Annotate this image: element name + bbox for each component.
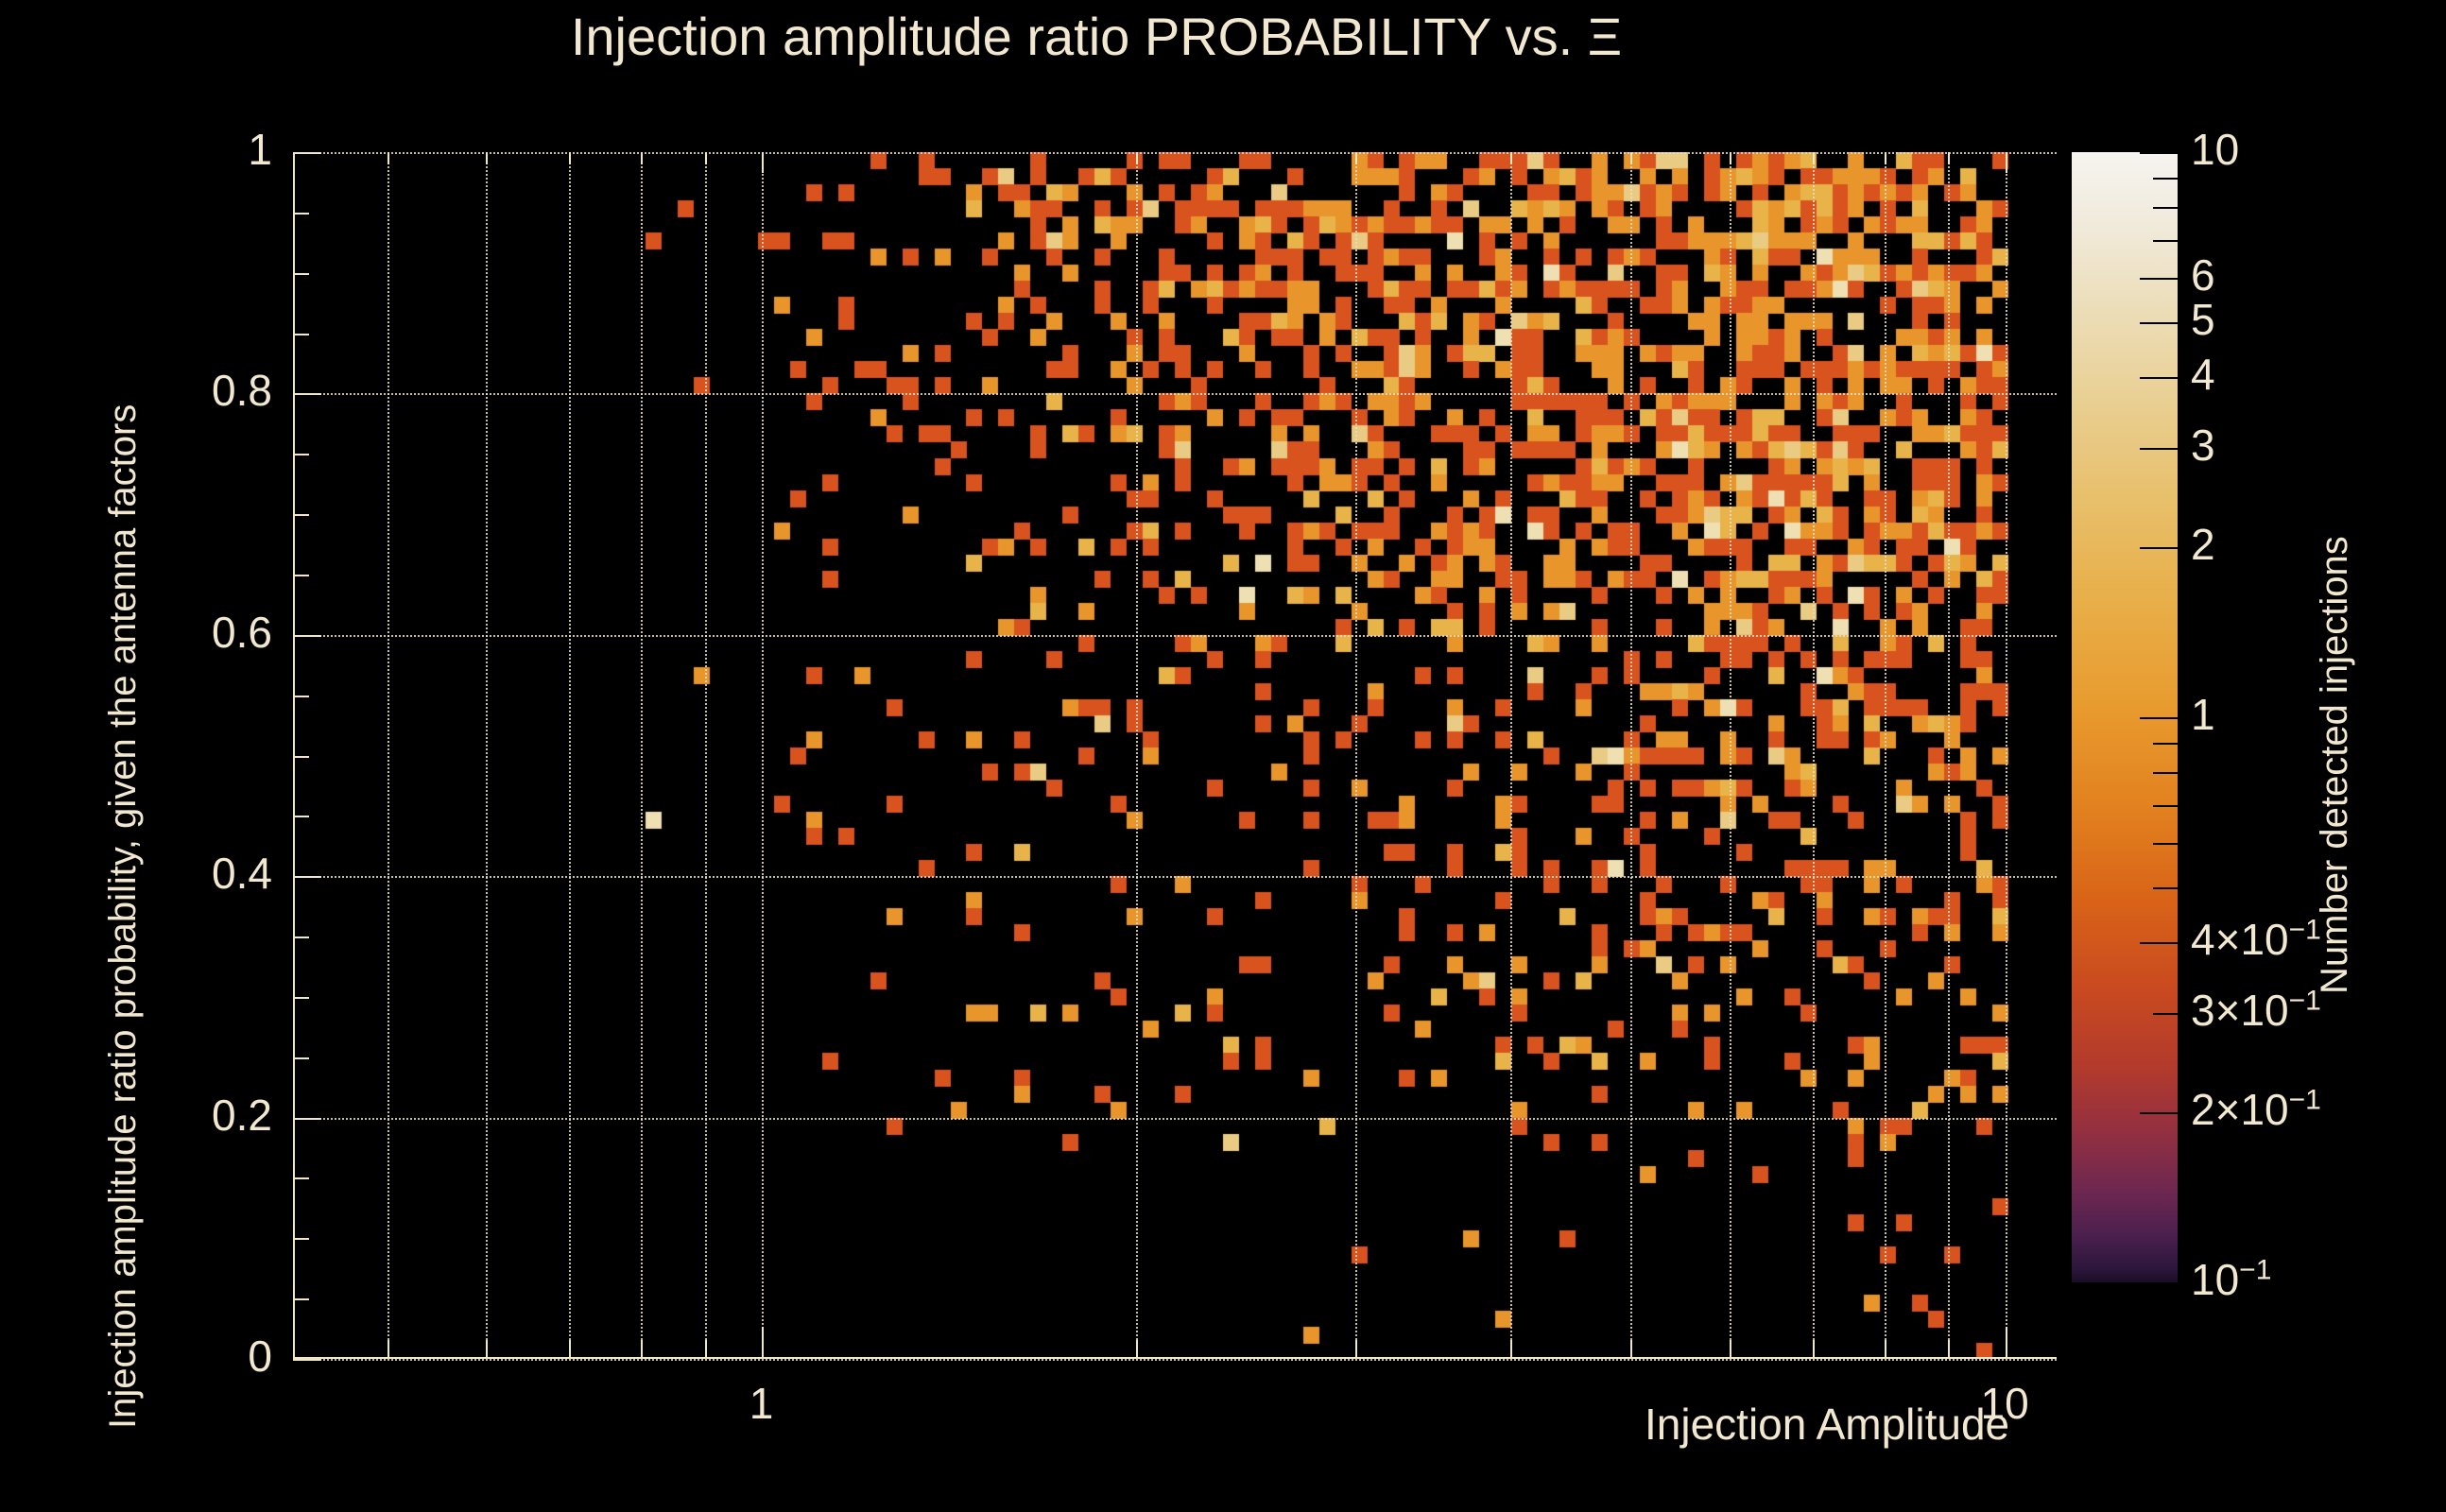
grid-line-vertical [486, 152, 488, 1359]
x-axis-tick [705, 1340, 707, 1359]
y-axis-tick [293, 936, 309, 938]
y-axis-tick [293, 816, 309, 817]
chart-root: Injection amplitude ratio PROBABILITY vs… [0, 0, 2446, 1512]
y-axis-tick [293, 1177, 309, 1179]
colorbar-tick [2153, 805, 2178, 807]
y-axis-tick [293, 1118, 321, 1120]
colorbar-tick-label: 2×10−1 [2191, 1084, 2321, 1135]
colorbar-tick [2153, 178, 2178, 180]
colorbar-tick-label: 5 [2191, 294, 2215, 345]
grid-line-vertical [2006, 152, 2007, 1359]
x-axis-tick-top [1813, 152, 1815, 164]
colorbar-tick-label: 1 [2191, 689, 2215, 740]
colorbar-tick [2153, 843, 2178, 845]
x-axis-tick-top [705, 152, 707, 164]
x-axis-tick [1510, 1340, 1512, 1359]
colorbar-tick-label: 4×10−1 [2191, 914, 2321, 965]
x-axis-tick [1730, 1340, 1731, 1359]
y-axis-title: Injection amplitude ratio probability, g… [102, 404, 145, 1429]
x-axis-tick-top [486, 152, 488, 164]
y-axis-tick [293, 152, 321, 154]
y-tick-label: 0.2 [212, 1090, 272, 1141]
x-axis-tick [641, 1340, 643, 1359]
colorbar-tick [2153, 772, 2178, 774]
y-axis-tick [293, 454, 309, 455]
grid-line-horizontal [293, 1359, 2057, 1361]
colorbar-tick [2153, 207, 2178, 209]
colorbar-tick-label: 3 [2191, 420, 2215, 471]
grid-line-horizontal [293, 393, 2057, 395]
colorbar-title: Number detected injections [2314, 536, 2356, 994]
x-axis-tick-top [1630, 152, 1632, 164]
colorbar-tick [2140, 717, 2178, 719]
x-axis-tick-top [641, 152, 643, 164]
colorbar-tick [2140, 278, 2178, 280]
grid-line-vertical [1510, 152, 1512, 1359]
x-axis-tick-top [1885, 152, 1886, 164]
grid-line-vertical [1730, 152, 1731, 1359]
x-axis-line [293, 1357, 2057, 1359]
x-axis-tick [1813, 1340, 1815, 1359]
x-tick-label: 1 [749, 1378, 774, 1429]
y-tick-label: 1 [248, 124, 272, 175]
x-axis-tick-top [569, 152, 571, 164]
x-axis-tick [1948, 1340, 1950, 1359]
grid-line-horizontal [293, 876, 2057, 878]
x-axis-tick [1355, 1340, 1357, 1359]
x-axis-tick [762, 1327, 764, 1359]
x-axis-tick-top [1948, 152, 1950, 164]
x-axis-tick [388, 1340, 389, 1359]
y-axis-tick [293, 273, 309, 275]
y-axis-tick [293, 213, 309, 215]
grid-line-vertical [1948, 152, 1950, 1359]
colorbar-tick [2140, 942, 2178, 944]
grid-line-vertical [1630, 152, 1632, 1359]
y-axis-tick [293, 696, 309, 697]
x-axis-tick [1885, 1340, 1886, 1359]
y-axis-tick [293, 876, 321, 878]
colorbar-tick [2140, 322, 2178, 324]
y-axis-tick [293, 393, 321, 395]
grid-line-horizontal [293, 635, 2057, 637]
colorbar-tick-label: 3×10−1 [2191, 985, 2321, 1036]
grid-line-horizontal [293, 152, 2057, 154]
y-tick-label: 0.8 [212, 365, 272, 416]
colorbar-tick [2153, 887, 2178, 889]
colorbar-tick [2140, 547, 2178, 549]
x-axis-tick-top [1730, 152, 1731, 164]
colorbar-tick [2140, 1112, 2178, 1114]
y-axis-tick [293, 1238, 309, 1240]
colorbar [2072, 152, 2178, 1282]
colorbar-tick-label: 4 [2191, 349, 2215, 400]
y-axis-tick [293, 334, 309, 335]
colorbar-tick-label: 2 [2191, 519, 2215, 570]
x-axis-tick [1630, 1340, 1632, 1359]
colorbar-tick [2153, 743, 2178, 745]
grid-line-vertical [1136, 152, 1138, 1359]
x-axis-tick [2006, 1327, 2007, 1359]
y-axis-tick [293, 514, 309, 516]
grid-line-vertical [1813, 152, 1815, 1359]
y-axis-tick [293, 756, 309, 758]
x-axis-tick-top [762, 152, 764, 173]
x-axis-tick-top [1355, 152, 1357, 164]
x-axis-tick-top [1136, 152, 1138, 164]
grid-line-vertical [1885, 152, 1886, 1359]
y-axis-tick [293, 1359, 321, 1361]
x-tick-label: 10 [1981, 1378, 2029, 1429]
colorbar-tick [2153, 1013, 2178, 1015]
x-axis-tick-top [1510, 152, 1512, 164]
colorbar-tick [2153, 240, 2178, 242]
colorbar-tick [2140, 448, 2178, 450]
grid-line-vertical [388, 152, 389, 1359]
colorbar-tick-label: 6 [2191, 249, 2215, 301]
y-axis-tick [293, 575, 309, 576]
y-tick-label: 0.6 [212, 607, 272, 658]
y-axis-tick [293, 1057, 309, 1059]
grid-line-vertical [1355, 152, 1357, 1359]
grid-line-vertical [705, 152, 707, 1359]
y-axis-tick [293, 635, 321, 637]
grid-line-vertical [641, 152, 643, 1359]
grid-line-vertical [762, 152, 764, 1359]
colorbar-tick-label: 10−1 [2191, 1254, 2271, 1305]
chart-title: Injection amplitude ratio PROBABILITY vs… [0, 6, 2193, 67]
y-tick-label: 0.4 [212, 848, 272, 899]
colorbar-tick [2140, 377, 2178, 379]
x-axis-title: Injection Amplitude [1645, 1399, 2009, 1450]
x-axis-tick-top [388, 152, 389, 164]
y-tick-label: 0 [248, 1331, 272, 1382]
y-axis-tick [293, 997, 309, 999]
heatmap-cells [293, 152, 2057, 1359]
x-axis-tick [486, 1340, 488, 1359]
x-axis-tick-top [2006, 152, 2007, 173]
colorbar-tick [2140, 152, 2178, 154]
plot-area [293, 152, 2057, 1359]
grid-line-vertical [569, 152, 571, 1359]
x-axis-tick [1136, 1340, 1138, 1359]
grid-line-horizontal [293, 1118, 2057, 1120]
x-axis-tick [569, 1340, 571, 1359]
colorbar-tick [2140, 1282, 2178, 1284]
y-axis-tick [293, 1298, 309, 1300]
colorbar-tick-label: 10 [2191, 124, 2239, 175]
